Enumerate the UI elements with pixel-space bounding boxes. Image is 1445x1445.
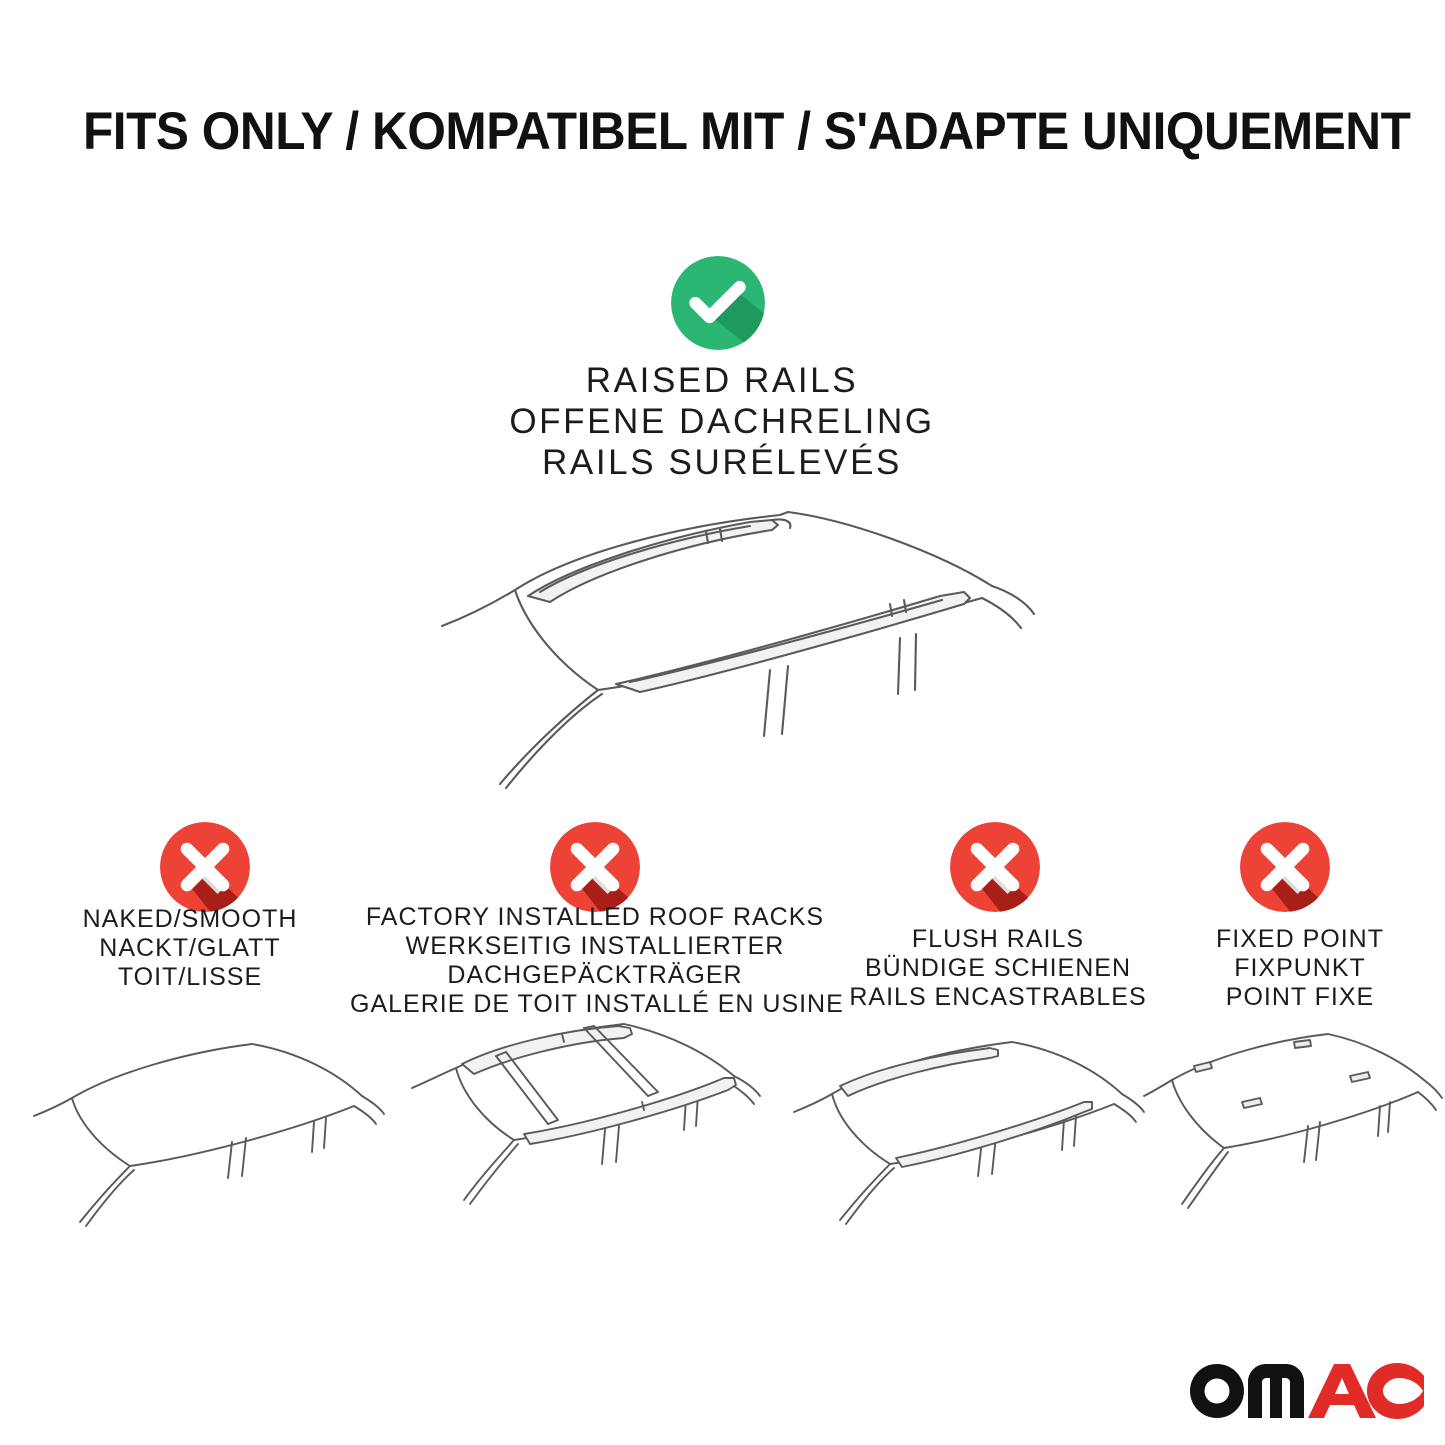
car-roof-flush-rails-illustration — [778, 1022, 1150, 1254]
cross-circle-icon — [160, 822, 250, 912]
incompatible-label-flush-rails: FLUSH RAILS BÜNDIGE SCHIENEN RAILS ENCAS… — [838, 925, 1158, 1012]
car-roof-naked-smooth-illustration — [18, 1022, 390, 1254]
check-circle-icon — [671, 256, 765, 350]
incompatible-flush-line-1: FLUSH RAILS — [838, 925, 1158, 954]
incompatible-fixed-line-2: FIXPUNKT — [1160, 954, 1440, 983]
car-roof-fixed-point-illustration — [1138, 1022, 1445, 1254]
cross-circle-icon — [1240, 822, 1330, 912]
incompatible-flush-line-2: BÜNDIGE SCHIENEN — [838, 954, 1158, 983]
incompatible-flush-line-3: RAILS ENCASTRABLES — [838, 983, 1158, 1012]
omac-logo — [1186, 1356, 1426, 1422]
incompatible-factory-line-3: DACHGEPÄCKTRÄGER — [350, 961, 840, 990]
incompatible-label-fixed-point: FIXED POINT FIXPUNKT POINT FIXE — [1160, 925, 1440, 1012]
incompatible-factory-line-1: FACTORY INSTALLED ROOF RACKS — [350, 903, 840, 932]
incompatible-naked-line-1: NAKED/SMOOTH — [20, 905, 360, 934]
incompatible-fixed-line-3: POINT FIXE — [1160, 983, 1440, 1012]
car-roof-factory-roof-racks-illustration — [398, 1012, 770, 1254]
incompatible-label-factory-racks: FACTORY INSTALLED ROOF RACKS WERKSEITIG … — [350, 903, 840, 1019]
incompatible-label-naked: NAKED/SMOOTH NACKT/GLATT TOIT/LISSE — [20, 905, 360, 992]
cross-circle-icon — [950, 822, 1040, 912]
incompatible-naked-line-2: NACKT/GLATT — [20, 934, 360, 963]
page-title: FITS ONLY / KOMPATIBEL MIT / S'ADAPTE UN… — [83, 104, 1373, 160]
car-roof-raised-rails-illustration — [420, 498, 1045, 793]
page-title-text: FITS ONLY / KOMPATIBEL MIT / S'ADAPTE UN… — [83, 104, 1410, 160]
incompatible-factory-line-2: WERKSEITIG INSTALLIERTER — [350, 932, 840, 961]
compatible-label: RAISED RAILS OFFENE DACHRELING RAILS SUR… — [372, 360, 1072, 483]
compatible-label-line-2: OFFENE DACHRELING — [372, 401, 1072, 442]
cross-circle-icon — [550, 822, 640, 912]
incompatible-naked-line-3: TOIT/LISSE — [20, 963, 360, 992]
incompatible-fixed-line-1: FIXED POINT — [1160, 925, 1440, 954]
compatible-label-line-1: RAISED RAILS — [372, 360, 1072, 401]
compatible-label-line-3: RAILS SURÉLEVÉS — [372, 442, 1072, 483]
